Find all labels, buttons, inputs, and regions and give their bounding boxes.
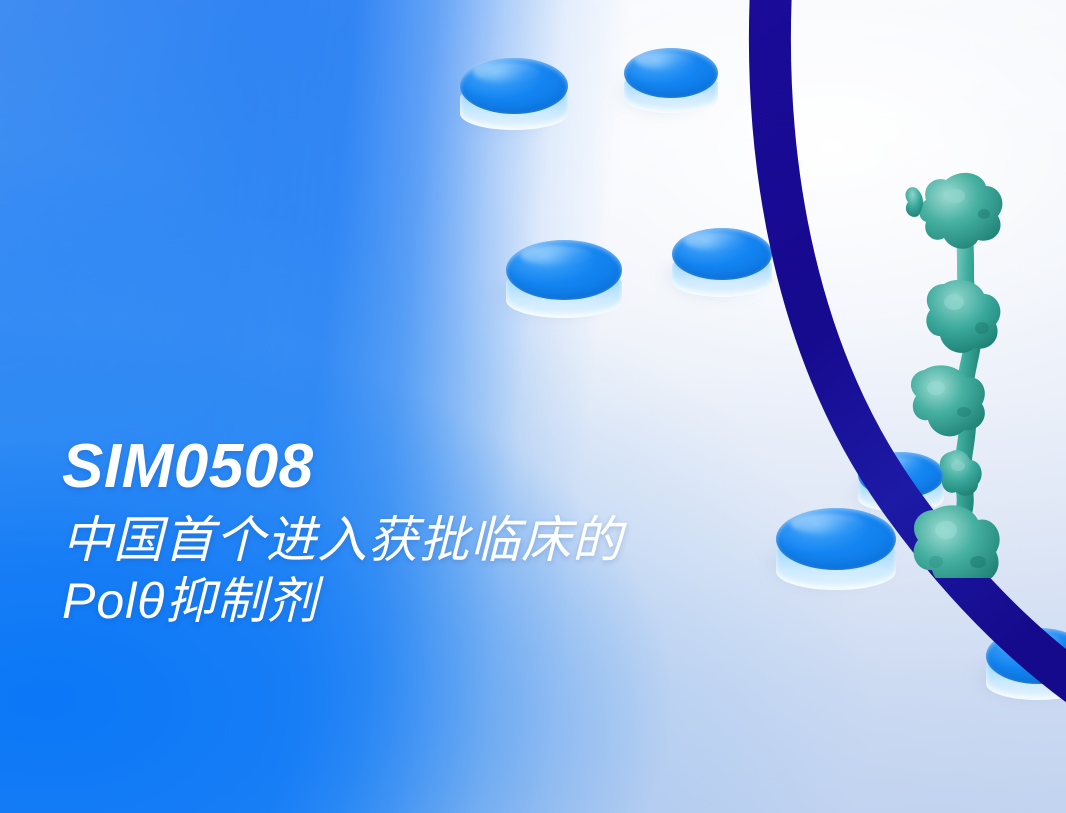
poster-canvas: SIM0508 中国首个进入获批临床的 Polθ抑制剂	[0, 0, 1066, 813]
tablet-disc	[672, 228, 772, 302]
tablet-disc	[624, 48, 718, 118]
subtitle-line-1: 中国首个进入获批临床的	[62, 512, 623, 568]
tablet-disc	[460, 58, 568, 136]
tablet-gloss	[520, 245, 592, 265]
tablet-gloss	[868, 456, 921, 472]
tablet-gloss	[635, 52, 693, 69]
tablet-gloss	[684, 232, 746, 250]
tablet-top	[672, 228, 772, 280]
tablet-top	[506, 240, 622, 300]
tablet-gloss	[998, 632, 1062, 651]
tablet-disc	[506, 240, 622, 324]
tablet-gloss	[473, 62, 540, 81]
tablet-top	[624, 48, 718, 98]
headline-block: SIM0508 中国首个进入获批临床的 Polθ抑制剂	[62, 436, 822, 632]
tablet-top	[858, 452, 944, 498]
subtitle-block: 中国首个进入获批临床的 Polθ抑制剂	[62, 510, 822, 632]
product-name: SIM0508	[62, 436, 822, 498]
tablet-disc	[858, 452, 944, 516]
subtitle-line-2: Polθ抑制剂	[62, 571, 822, 632]
tablet-top	[460, 58, 568, 114]
tablet-disc	[986, 628, 1066, 706]
